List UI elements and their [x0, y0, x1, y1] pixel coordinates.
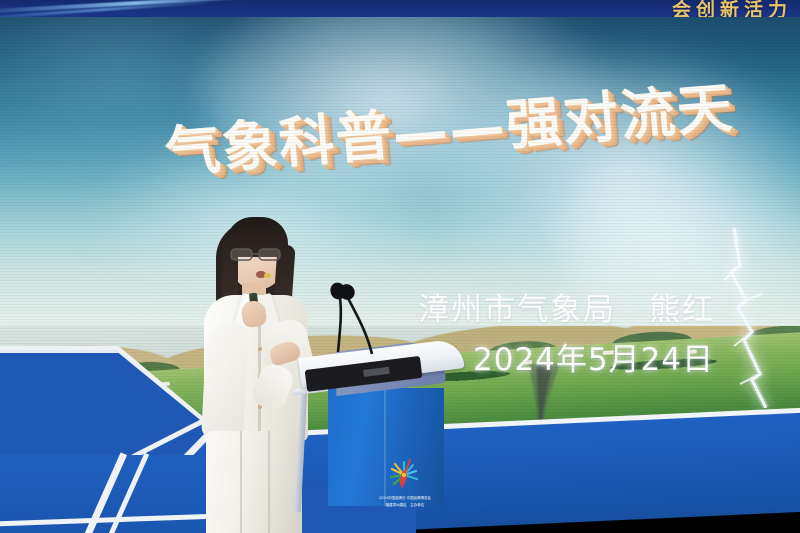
starburst-logo-icon — [386, 456, 422, 492]
gooseneck-microphone-right — [336, 280, 388, 356]
slide-subtitle: 漳州市气象局 熊红 — [418, 284, 715, 329]
banner-title-text: 会创新活力 — [672, 0, 792, 17]
eyeglasses-icon — [230, 247, 286, 261]
podium-caption: 2024中国品牌日·中国品牌博览会 福建漳州展区 主办单位 — [376, 496, 434, 512]
podium-body: 2024中国品牌日·中国品牌博览会 福建漳州展区 主办单位 — [328, 388, 444, 506]
podium-caption-line1: 2024中国品牌日·中国品牌博览会 — [379, 496, 431, 501]
blouse-button-1 — [258, 347, 262, 351]
podium-control-plate — [363, 367, 390, 377]
screenshot-root: 会创新活力 气象科普——强对流天 漳州市气象局 熊红 2024年5月24日 — [0, 0, 800, 533]
podium-caption-line2: 福建漳州展区 主办单位 — [386, 503, 424, 508]
lapel-microphone-icon — [264, 273, 271, 278]
top-banner: 会创新活力 — [0, 0, 800, 17]
presenter-trousers — [206, 431, 302, 533]
podium: 2024中国品牌日·中国品牌博览会 福建漳州展区 主办单位 — [300, 340, 480, 533]
slide-title: 气象科普——强对流天 — [162, 62, 737, 187]
presenter-arm-left — [201, 322, 249, 442]
